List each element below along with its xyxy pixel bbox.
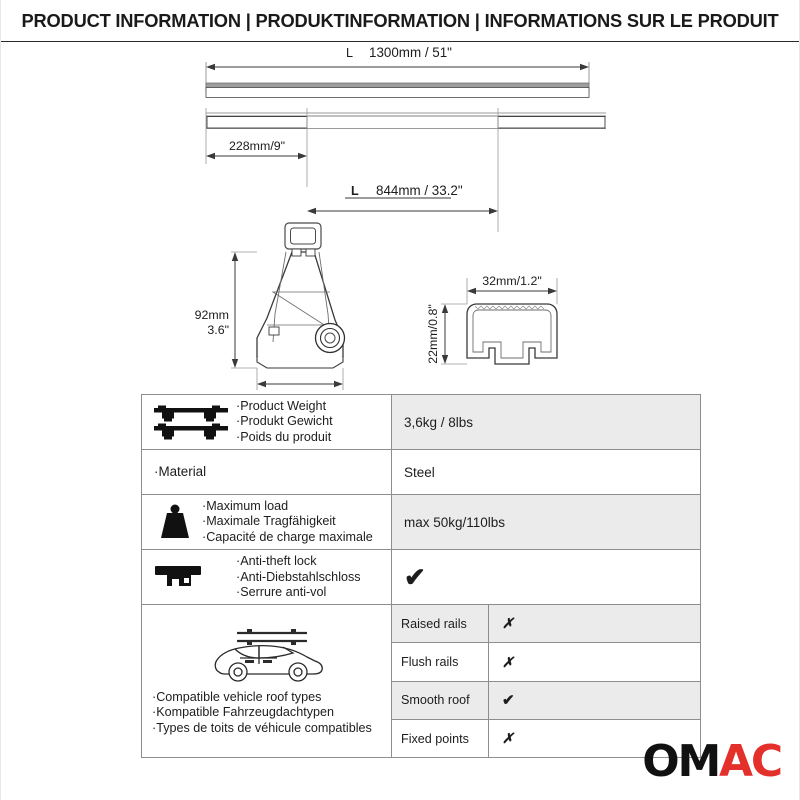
- lock-icon: [148, 561, 210, 593]
- label-line: ·Types de toits de véhicule compatibles: [152, 721, 372, 737]
- label-line: ·Anti-Diebstahlschloss: [236, 570, 387, 585]
- label-line: ·Kompatible Fahrzeugdachtypen: [152, 705, 372, 721]
- spec-label-text: ·Anti-theft lock ·Anti-Diebstahlschloss …: [210, 554, 387, 600]
- cross-icon: ✗: [502, 654, 514, 671]
- compat-label: Flush rails: [392, 643, 489, 680]
- cross-icon: ✗: [502, 730, 514, 747]
- spec-label-cell: ·Anti-theft lock ·Anti-Diebstahlschloss …: [142, 550, 392, 604]
- dim-offset-value: 228mm/9": [229, 139, 285, 153]
- label-line: ·Maximum load: [202, 499, 387, 514]
- spec-label-cell: ·Compatible vehicle roof types ·Kompatib…: [142, 605, 392, 757]
- logo-text-ac: AC: [719, 736, 781, 787]
- spec-value-anti-theft-lock: ✔: [392, 550, 700, 604]
- dim-foot-height-line1: 92mm: [195, 308, 229, 322]
- technical-drawing: L 1300mm / 51" 228mm/9" L 844mm / 33.2" …: [1, 42, 800, 394]
- spec-label-text: ·Product Weight ·Produkt Gewicht ·Poids …: [234, 399, 387, 445]
- crossbars-icon: [148, 402, 234, 442]
- label-line: ·Anti-theft lock: [236, 554, 387, 569]
- label-line: ·Material: [154, 464, 387, 480]
- spec-value-material: Steel: [392, 450, 700, 494]
- spec-label-cell: ·Material: [142, 450, 392, 494]
- table-row: ·Product Weight ·Produkt Gewicht ·Poids …: [142, 395, 700, 450]
- spec-value-product-weight: 3,6kg / 8lbs: [392, 395, 700, 449]
- dim-profile-width-value: 32mm/1.2": [482, 274, 542, 288]
- car-with-rack-icon: [152, 624, 383, 686]
- cross-icon: ✗: [502, 615, 514, 632]
- dim-foot-height-line2: 3.6": [207, 323, 229, 337]
- dim-profile-height-value: 22mm/0.8": [426, 304, 440, 364]
- label-line: ·Produkt Gewicht: [236, 414, 387, 429]
- compat-row-smooth-roof: Smooth roof ✔: [392, 682, 700, 720]
- compat-label: Raised rails: [392, 605, 489, 642]
- label-line: ·Capacité de charge maximale: [202, 530, 387, 545]
- dim-bar-length-symbol: L: [346, 46, 353, 60]
- spec-label-text: ·Material: [154, 464, 387, 480]
- spec-label-text: ·Maximum load ·Maximale Tragfähigkeit ·C…: [202, 499, 387, 545]
- compat-label: Fixed points: [392, 720, 489, 757]
- spec-label-cell: ·Maximum load ·Maximale Tragfähigkeit ·C…: [142, 495, 392, 549]
- label-line: ·Poids du produit: [236, 430, 387, 445]
- table-row: ·Anti-theft lock ·Anti-Diebstahlschloss …: [142, 550, 700, 605]
- compat-label: Smooth roof: [392, 682, 489, 719]
- spec-label-text: ·Compatible vehicle roof types ·Kompatib…: [152, 690, 372, 737]
- page-header: PRODUCT INFORMATION | PRODUKTINFORMATION…: [1, 0, 799, 42]
- label-line: ·Maximale Tragfähigkeit: [202, 514, 387, 529]
- label-line: ·Compatible vehicle roof types: [152, 690, 372, 706]
- table-row: ·Maximum load ·Maximale Tragfähigkeit ·C…: [142, 495, 700, 550]
- dim-span-symbol: L: [351, 184, 359, 198]
- table-row: ·Compatible vehicle roof types ·Kompatib…: [142, 605, 700, 757]
- product-information-page: PRODUCT INFORMATION | PRODUKTINFORMATION…: [0, 0, 800, 800]
- checkmark-icon: ✔: [502, 691, 515, 709]
- checkmark-icon: ✔: [404, 564, 426, 590]
- page-title: PRODUCT INFORMATION | PRODUKTINFORMATION…: [22, 10, 779, 32]
- compat-mark-smooth-roof: ✔: [489, 682, 700, 719]
- dim-bar-length-value: 1300mm / 51": [369, 45, 452, 60]
- compat-row-flush-rails: Flush rails ✗: [392, 643, 700, 681]
- specification-table: ·Product Weight ·Produkt Gewicht ·Poids …: [141, 394, 701, 758]
- compat-mark-raised-rails: ✗: [489, 605, 700, 642]
- label-line: ·Product Weight: [236, 399, 387, 414]
- roof-type-compatibility-table: Raised rails ✗ Flush rails ✗ Smooth roof…: [392, 605, 700, 757]
- spec-label-cell: ·Product Weight ·Produkt Gewicht ·Poids …: [142, 395, 392, 449]
- table-row: ·Material Steel: [142, 450, 700, 495]
- label-line: ·Serrure anti-vol: [236, 585, 387, 600]
- weight-icon: [148, 502, 202, 542]
- spec-value-maximum-load: max 50kg/110lbs: [392, 495, 700, 549]
- logo-text-om: OM: [642, 736, 719, 787]
- dim-span-value: 844mm / 33.2": [376, 183, 463, 198]
- omac-logo: OMAC: [642, 740, 781, 784]
- compat-mark-flush-rails: ✗: [489, 643, 700, 680]
- compat-row-raised-rails: Raised rails ✗: [392, 605, 700, 643]
